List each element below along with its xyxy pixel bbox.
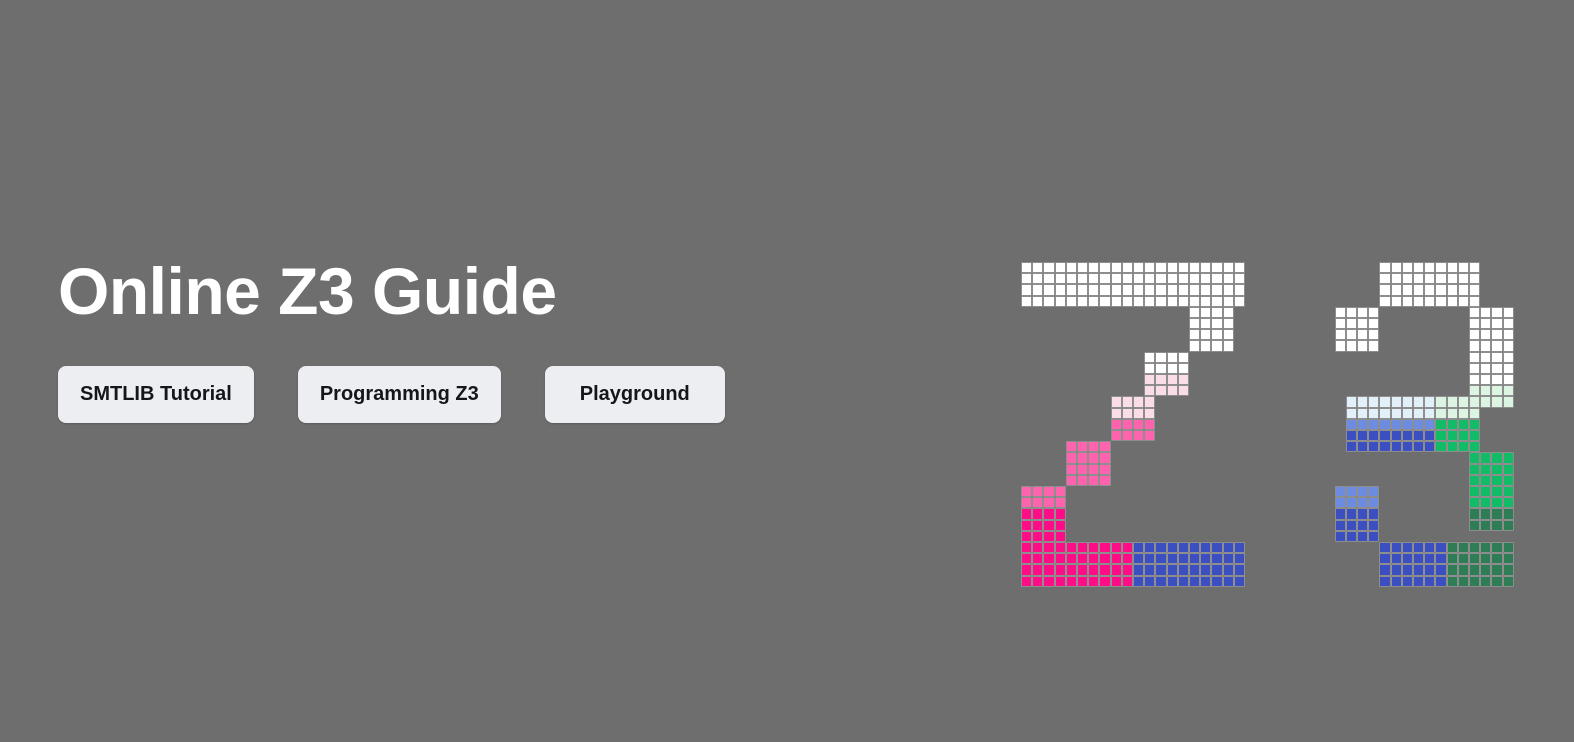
logo-cell	[1066, 475, 1077, 486]
logo-cell	[1077, 262, 1088, 273]
logo-cell	[1088, 273, 1099, 284]
logo-cell	[1335, 340, 1346, 351]
logo-cell	[1480, 464, 1491, 475]
logo-cell	[1223, 307, 1234, 318]
logo-cell	[1435, 419, 1446, 430]
logo-cell	[1144, 284, 1155, 295]
logo-cell	[1469, 441, 1480, 452]
logo-cell	[1469, 296, 1480, 307]
logo-cell	[1435, 542, 1446, 553]
logo-cell	[1503, 497, 1514, 508]
logo-cell	[1122, 576, 1133, 587]
logo-cell	[1458, 408, 1469, 419]
logo-cell	[1480, 475, 1491, 486]
hero-section: Online Z3 Guide SMTLIB Tutorial Programm…	[0, 0, 1574, 742]
logo-cell	[1021, 497, 1032, 508]
logo-cell	[1391, 542, 1402, 553]
logo-cell	[1021, 273, 1032, 284]
logo-cell	[1144, 564, 1155, 575]
logo-cell	[1111, 408, 1122, 419]
logo-cell	[1346, 307, 1357, 318]
logo-cell	[1379, 553, 1390, 564]
logo-cell	[1480, 385, 1491, 396]
logo-cell	[1491, 385, 1502, 396]
logo-cell	[1234, 273, 1245, 284]
logo-cell	[1043, 520, 1054, 531]
logo-cell	[1189, 307, 1200, 318]
logo-cell	[1368, 329, 1379, 340]
logo-cell	[1480, 486, 1491, 497]
logo-cell	[1402, 284, 1413, 295]
logo-cell	[1469, 284, 1480, 295]
logo-cell	[1469, 340, 1480, 351]
logo-cell	[1099, 564, 1110, 575]
logo-cell	[1413, 273, 1424, 284]
programming-z3-button[interactable]: Programming Z3	[298, 366, 501, 423]
logo-cell	[1391, 262, 1402, 273]
logo-cell	[1379, 408, 1390, 419]
logo-cell	[1346, 340, 1357, 351]
logo-cell	[1469, 262, 1480, 273]
logo-cell	[1032, 564, 1043, 575]
logo-cell	[1424, 273, 1435, 284]
logo-cell	[1111, 553, 1122, 564]
logo-cell	[1357, 441, 1368, 452]
logo-cell	[1458, 296, 1469, 307]
logo-cell	[1077, 564, 1088, 575]
logo-cell	[1503, 363, 1514, 374]
logo-cell	[1469, 408, 1480, 419]
logo-cell	[1021, 296, 1032, 307]
logo-cell	[1200, 553, 1211, 564]
logo-cell	[1447, 553, 1458, 564]
logo-cell	[1357, 497, 1368, 508]
logo-cell	[1234, 553, 1245, 564]
logo-cell	[1066, 284, 1077, 295]
logo-cell	[1402, 296, 1413, 307]
logo-cell	[1469, 352, 1480, 363]
logo-cell	[1066, 296, 1077, 307]
logo-cell	[1144, 576, 1155, 587]
logo-cell	[1402, 262, 1413, 273]
logo-cell	[1357, 520, 1368, 531]
logo-cell	[1211, 329, 1222, 340]
logo-cell	[1189, 329, 1200, 340]
logo-cell	[1491, 318, 1502, 329]
logo-cell	[1144, 374, 1155, 385]
logo-cell	[1503, 520, 1514, 531]
logo-cell	[1469, 374, 1480, 385]
logo-cell	[1043, 508, 1054, 519]
logo-cell	[1021, 576, 1032, 587]
logo-cell	[1435, 296, 1446, 307]
logo-cell	[1021, 531, 1032, 542]
logo-cell	[1111, 576, 1122, 587]
logo-cell	[1189, 340, 1200, 351]
logo-cell	[1099, 553, 1110, 564]
logo-cell	[1155, 576, 1166, 587]
logo-cell	[1111, 273, 1122, 284]
logo-cell	[1144, 542, 1155, 553]
logo-cell	[1178, 363, 1189, 374]
logo-cell	[1178, 296, 1189, 307]
logo-cell	[1178, 576, 1189, 587]
logo-cell	[1155, 385, 1166, 396]
logo-cell	[1122, 553, 1133, 564]
logo-cell	[1447, 576, 1458, 587]
logo-cell	[1167, 553, 1178, 564]
logo-cell	[1480, 396, 1491, 407]
logo-cell	[1480, 542, 1491, 553]
logo-cell	[1491, 553, 1502, 564]
logo-cell	[1077, 284, 1088, 295]
logo-cell	[1088, 262, 1099, 273]
logo-cell	[1413, 296, 1424, 307]
logo-cell	[1043, 273, 1054, 284]
logo-cell	[1435, 408, 1446, 419]
logo-cell	[1133, 564, 1144, 575]
logo-cell	[1480, 553, 1491, 564]
logo-cell	[1234, 262, 1245, 273]
logo-cell	[1435, 284, 1446, 295]
logo-cell	[1469, 385, 1480, 396]
logo-cell	[1357, 430, 1368, 441]
logo-cell	[1189, 273, 1200, 284]
logo-cell	[1189, 553, 1200, 564]
logo-cell	[1503, 508, 1514, 519]
logo-cell	[1155, 273, 1166, 284]
logo-cell	[1155, 542, 1166, 553]
logo-cell	[1122, 408, 1133, 419]
logo-cell	[1133, 408, 1144, 419]
logo-cell	[1424, 576, 1435, 587]
logo-cell	[1435, 576, 1446, 587]
logo-cell	[1368, 520, 1379, 531]
logo-cell	[1088, 553, 1099, 564]
logo-cell	[1111, 419, 1122, 430]
logo-cell	[1122, 430, 1133, 441]
logo-cell	[1503, 340, 1514, 351]
logo-cell	[1088, 452, 1099, 463]
logo-cell	[1099, 262, 1110, 273]
logo-cell	[1200, 329, 1211, 340]
logo-cell	[1032, 486, 1043, 497]
logo-cell	[1111, 396, 1122, 407]
logo-cell	[1503, 486, 1514, 497]
logo-cell	[1368, 307, 1379, 318]
logo-cell	[1503, 564, 1514, 575]
logo-cell	[1435, 262, 1446, 273]
logo-cell	[1346, 486, 1357, 497]
logo-cell	[1368, 497, 1379, 508]
logo-cell	[1122, 262, 1133, 273]
logo-cell	[1424, 262, 1435, 273]
logo-cell	[1155, 284, 1166, 295]
z3-pixel-logo	[1021, 262, 1521, 582]
logo-cell	[1223, 340, 1234, 351]
logo-cell	[1491, 564, 1502, 575]
logo-cell	[1346, 520, 1357, 531]
logo-cell	[1491, 307, 1502, 318]
logo-cell	[1413, 262, 1424, 273]
logo-cell	[1368, 419, 1379, 430]
logo-cell	[1413, 542, 1424, 553]
logo-cell	[1189, 318, 1200, 329]
logo-cell	[1503, 553, 1514, 564]
logo-cell	[1424, 396, 1435, 407]
logo-cell	[1200, 273, 1211, 284]
logo-cell	[1077, 441, 1088, 452]
logo-cell	[1211, 340, 1222, 351]
logo-cell	[1491, 508, 1502, 519]
logo-cell	[1503, 396, 1514, 407]
logo-cell	[1066, 464, 1077, 475]
logo-cell	[1178, 352, 1189, 363]
logo-cell	[1346, 508, 1357, 519]
logo-cell	[1435, 553, 1446, 564]
logo-cell	[1402, 430, 1413, 441]
logo-cell	[1335, 497, 1346, 508]
logo-cell	[1055, 553, 1066, 564]
logo-cell	[1144, 396, 1155, 407]
logo-cell	[1357, 318, 1368, 329]
logo-cell	[1413, 564, 1424, 575]
logo-cell	[1043, 531, 1054, 542]
logo-cell	[1424, 284, 1435, 295]
logo-cell	[1167, 542, 1178, 553]
logo-cell	[1167, 352, 1178, 363]
logo-cell	[1032, 542, 1043, 553]
logo-cell	[1032, 531, 1043, 542]
logo-cell	[1413, 284, 1424, 295]
logo-cell	[1402, 564, 1413, 575]
logo-cell	[1413, 430, 1424, 441]
logo-cell	[1043, 576, 1054, 587]
logo-cell	[1066, 262, 1077, 273]
logo-cell	[1368, 508, 1379, 519]
logo-cell	[1335, 531, 1346, 542]
logo-cell	[1346, 531, 1357, 542]
logo-cell	[1234, 564, 1245, 575]
logo-cell	[1458, 419, 1469, 430]
logo-cell	[1491, 486, 1502, 497]
logo-cell	[1391, 419, 1402, 430]
logo-cell	[1088, 542, 1099, 553]
logo-cell	[1503, 475, 1514, 486]
logo-cell	[1088, 296, 1099, 307]
logo-cell	[1043, 486, 1054, 497]
logo-cell	[1133, 553, 1144, 564]
logo-cell	[1211, 307, 1222, 318]
logo-cell	[1357, 329, 1368, 340]
logo-cell	[1178, 564, 1189, 575]
logo-cell	[1469, 318, 1480, 329]
logo-cell	[1066, 273, 1077, 284]
logo-cell	[1458, 542, 1469, 553]
logo-cell	[1021, 486, 1032, 497]
logo-cell	[1155, 262, 1166, 273]
logo-cell	[1099, 441, 1110, 452]
logo-cell	[1122, 564, 1133, 575]
logo-cell	[1379, 564, 1390, 575]
logo-cell	[1503, 374, 1514, 385]
logo-cell	[1480, 374, 1491, 385]
logo-cell	[1043, 296, 1054, 307]
logo-cell	[1155, 296, 1166, 307]
logo-cell	[1223, 318, 1234, 329]
logo-cell	[1379, 576, 1390, 587]
logo-cell	[1424, 430, 1435, 441]
logo-cell	[1491, 542, 1502, 553]
logo-cell	[1491, 396, 1502, 407]
logo-cell	[1480, 564, 1491, 575]
logo-cell	[1211, 576, 1222, 587]
logo-cell	[1211, 296, 1222, 307]
logo-cell	[1077, 475, 1088, 486]
logo-cell	[1469, 452, 1480, 463]
logo-cell	[1391, 441, 1402, 452]
logo-cell	[1099, 464, 1110, 475]
logo-cell	[1032, 553, 1043, 564]
logo-cell	[1346, 430, 1357, 441]
logo-cell	[1447, 273, 1458, 284]
logo-cell	[1167, 576, 1178, 587]
logo-cell	[1447, 396, 1458, 407]
logo-cell	[1122, 296, 1133, 307]
logo-cell	[1503, 542, 1514, 553]
logo-cell	[1200, 307, 1211, 318]
logo-cell	[1032, 497, 1043, 508]
logo-cell	[1413, 419, 1424, 430]
logo-cell	[1491, 576, 1502, 587]
logo-cell	[1335, 486, 1346, 497]
logo-cell	[1189, 284, 1200, 295]
hero-button-row: SMTLIB Tutorial Programming Z3 Playgroun…	[58, 366, 725, 423]
logo-cell	[1424, 296, 1435, 307]
logo-cell	[1480, 363, 1491, 374]
logo-cell	[1200, 318, 1211, 329]
logo-cell	[1335, 318, 1346, 329]
logo-cell	[1133, 296, 1144, 307]
logo-cell	[1469, 475, 1480, 486]
logo-cell	[1211, 542, 1222, 553]
logo-cell	[1379, 419, 1390, 430]
logo-cell	[1111, 542, 1122, 553]
logo-cell	[1178, 284, 1189, 295]
logo-cell	[1055, 284, 1066, 295]
logo-cell	[1144, 296, 1155, 307]
smtlib-tutorial-button[interactable]: SMTLIB Tutorial	[58, 366, 254, 423]
logo-cell	[1379, 273, 1390, 284]
logo-cell	[1480, 576, 1491, 587]
logo-cell	[1234, 576, 1245, 587]
logo-cell	[1402, 576, 1413, 587]
logo-cell	[1167, 296, 1178, 307]
logo-cell	[1391, 408, 1402, 419]
playground-button[interactable]: Playground	[545, 366, 725, 423]
logo-cell	[1402, 542, 1413, 553]
logo-cell	[1480, 452, 1491, 463]
logo-cell	[1178, 262, 1189, 273]
logo-cell	[1458, 284, 1469, 295]
logo-cell	[1077, 464, 1088, 475]
logo-cell	[1346, 497, 1357, 508]
logo-cell	[1391, 284, 1402, 295]
logo-cell	[1447, 262, 1458, 273]
logo-cell	[1021, 262, 1032, 273]
logo-cell	[1088, 564, 1099, 575]
logo-cell	[1503, 307, 1514, 318]
logo-cell	[1032, 296, 1043, 307]
logo-cell	[1211, 262, 1222, 273]
logo-cell	[1435, 564, 1446, 575]
logo-cell	[1379, 262, 1390, 273]
logo-cell	[1055, 296, 1066, 307]
logo-cell	[1133, 576, 1144, 587]
logo-cell	[1133, 273, 1144, 284]
logo-cell	[1144, 363, 1155, 374]
logo-cell	[1189, 542, 1200, 553]
logo-cell	[1032, 284, 1043, 295]
logo-cell	[1402, 273, 1413, 284]
logo-cell	[1346, 329, 1357, 340]
logo-cell	[1491, 464, 1502, 475]
logo-cell	[1458, 553, 1469, 564]
logo-cell	[1167, 374, 1178, 385]
logo-cell	[1368, 430, 1379, 441]
logo-cell	[1368, 441, 1379, 452]
logo-cell	[1021, 508, 1032, 519]
logo-cell	[1066, 576, 1077, 587]
logo-cell	[1469, 419, 1480, 430]
logo-cell	[1491, 340, 1502, 351]
logo-cell	[1066, 553, 1077, 564]
logo-cell	[1144, 419, 1155, 430]
logo-cell	[1469, 576, 1480, 587]
logo-cell	[1402, 419, 1413, 430]
logo-cell	[1469, 564, 1480, 575]
logo-cell	[1111, 430, 1122, 441]
logo-cell	[1357, 307, 1368, 318]
logo-cell	[1357, 408, 1368, 419]
logo-cell	[1200, 262, 1211, 273]
logo-cell	[1055, 520, 1066, 531]
logo-cell	[1480, 329, 1491, 340]
logo-cell	[1088, 284, 1099, 295]
logo-cell	[1379, 430, 1390, 441]
logo-cell	[1346, 419, 1357, 430]
logo-cell	[1077, 273, 1088, 284]
logo-cell	[1133, 284, 1144, 295]
logo-cell	[1346, 441, 1357, 452]
logo-cell	[1458, 441, 1469, 452]
logo-cell	[1133, 542, 1144, 553]
logo-cell	[1133, 262, 1144, 273]
logo-cell	[1155, 363, 1166, 374]
logo-cell	[1055, 262, 1066, 273]
logo-cell	[1391, 430, 1402, 441]
logo-cell	[1503, 576, 1514, 587]
logo-cell	[1391, 564, 1402, 575]
logo-cell	[1223, 553, 1234, 564]
logo-cell	[1223, 576, 1234, 587]
logo-cell	[1435, 396, 1446, 407]
logo-cell	[1066, 441, 1077, 452]
logo-cell	[1211, 273, 1222, 284]
logo-cell	[1491, 452, 1502, 463]
logo-cell	[1167, 284, 1178, 295]
logo-cell	[1469, 542, 1480, 553]
